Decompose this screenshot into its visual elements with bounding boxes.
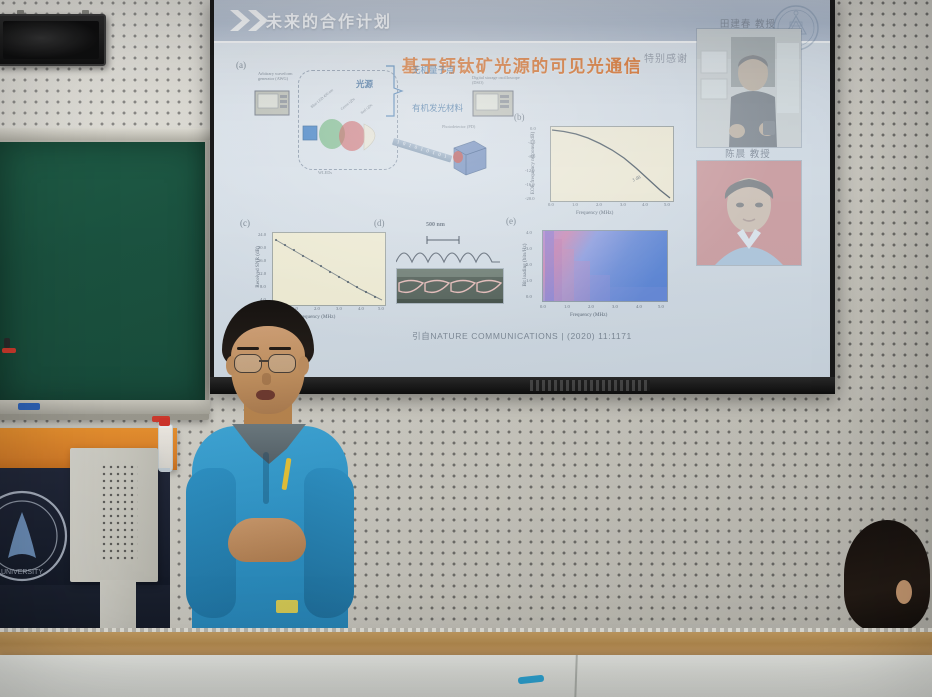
- chart-b-xtick-1: 1.0: [572, 202, 578, 207]
- chart-e-xtick-2: 2.0: [588, 304, 594, 309]
- chart-e-xtick-3: 3.0: [612, 304, 618, 309]
- presenter-ear-right: [298, 356, 309, 375]
- lecture-hall-photo: 未来的合作计划 基于钙钛矿光源的可见光通信 特别感谢 田建春 教授: [0, 0, 932, 697]
- chalkboard-top-rail: [0, 128, 210, 140]
- audience-ear: [896, 580, 912, 604]
- bitstream-label: 1 0 1 0 1 0 1 0 1: [392, 138, 452, 163]
- water-bottle: [158, 424, 173, 472]
- light-source-label: 光源: [356, 78, 373, 90]
- slide-header-title: 未来的合作计划: [266, 8, 392, 32]
- sem-micrograph: [396, 268, 504, 304]
- presenter-nose: [262, 373, 271, 385]
- chart-b-xtick-0: 0.0: [548, 202, 554, 207]
- chart-e-xtick-5: 5.0: [658, 304, 664, 309]
- presenter: [180, 300, 360, 660]
- svg-text:UNIVERSITY: UNIVERSITY: [1, 569, 43, 576]
- presenter-mouth: [256, 390, 275, 400]
- red-chalk: [2, 348, 16, 353]
- bottle-cap: [159, 418, 170, 426]
- photo-projection-veil: [697, 29, 801, 147]
- photo-caption-chen: 陈晨 教授: [696, 146, 800, 160]
- chart-e-xtick-4: 4.0: [636, 304, 642, 309]
- chart-e-xtick-1: 1.0: [564, 304, 570, 309]
- chart-c-ylabel: Received SNR (dB): [255, 227, 261, 307]
- figure-panel-b: (b) 0.0 -4.0 -8.0 -12.0 -16.0 -20.0 0.0 …: [514, 112, 684, 224]
- presenter-badge: [276, 600, 298, 613]
- chart-b-xtick-3: 3.0: [620, 202, 626, 207]
- photo-professor-chen: [696, 160, 802, 266]
- panel-label-d: (d): [374, 218, 385, 228]
- cabinet-vent-grille: [102, 465, 138, 561]
- panel-label-b: (b): [514, 112, 525, 122]
- chart-b-xtick-4: 4.0: [642, 202, 648, 207]
- glasses-bridge: [259, 360, 269, 362]
- chart-b-xtick-5: 5.0: [664, 202, 670, 207]
- dso-instrument-icon: [472, 90, 518, 118]
- figure-panel-e: (e): [506, 216, 678, 328]
- glasses-lens-left-icon: [234, 354, 262, 373]
- presenter-brow-right: [269, 347, 291, 350]
- wall-speaker-icon: [0, 14, 106, 66]
- photodetector-label: Photodetector (PD): [442, 124, 475, 129]
- led-chain-diagram: [302, 104, 394, 166]
- scalebar-arrow-icon: [426, 232, 460, 244]
- presenter-clasped-hands: [228, 518, 306, 562]
- audience-hair: [844, 520, 930, 632]
- chart-e-xlabel: Frequency (MHz): [570, 312, 607, 318]
- branch-organic-emitter: 有机发光材料: [412, 102, 463, 114]
- green-chalkboard: [0, 142, 205, 404]
- presenter-brow-left: [237, 347, 259, 350]
- chart-e-plot-area: [542, 230, 668, 302]
- branch-inorganic-qd: 无机量子点: [412, 64, 455, 76]
- chart-e-xtick-0: 0.0: [540, 304, 546, 309]
- figure-panel-a: (a) Arbitrary waveform generator (AWG) W…: [236, 60, 536, 190]
- photodetector-icon: [448, 138, 488, 176]
- glasses-lens-right-icon: [268, 354, 296, 373]
- special-thanks-label: 特别感谢: [644, 50, 688, 65]
- panel-label-c: (c): [240, 218, 250, 228]
- awg-instrument-icon: [254, 90, 294, 118]
- board-eraser: [4, 338, 10, 348]
- wled-label: WLEDs: [318, 170, 332, 175]
- chart-c-scatter: [272, 232, 384, 304]
- figure-panel-d: (d) 500 nm: [374, 218, 514, 318]
- chart-b-xtick-2: 2.0: [596, 202, 602, 207]
- university-emblem-icon: UNIVERSITY: [0, 488, 70, 584]
- chart-e-ylabel: Bit loading (bits/Hz): [522, 222, 528, 308]
- presenter-shirt-placket: [263, 452, 269, 504]
- photo-projection-veil-2: [697, 161, 801, 265]
- panel-label-a: (a): [236, 60, 246, 70]
- chart-b-ylabel: EOE frequency response (dB): [530, 118, 536, 208]
- foreground-desk: [0, 655, 932, 697]
- grating-profile-curve: [396, 240, 502, 268]
- presenter-right-arm: [304, 468, 354, 618]
- dso-label: Digital storage oscilloscope (DSO): [472, 76, 522, 85]
- photo-professor-tian: [696, 28, 802, 148]
- scale-label-500nm: 500 nm: [426, 222, 445, 228]
- blue-eraser: [18, 403, 40, 410]
- chart-b-line: [550, 126, 672, 200]
- panel-label-e: (e): [506, 216, 516, 226]
